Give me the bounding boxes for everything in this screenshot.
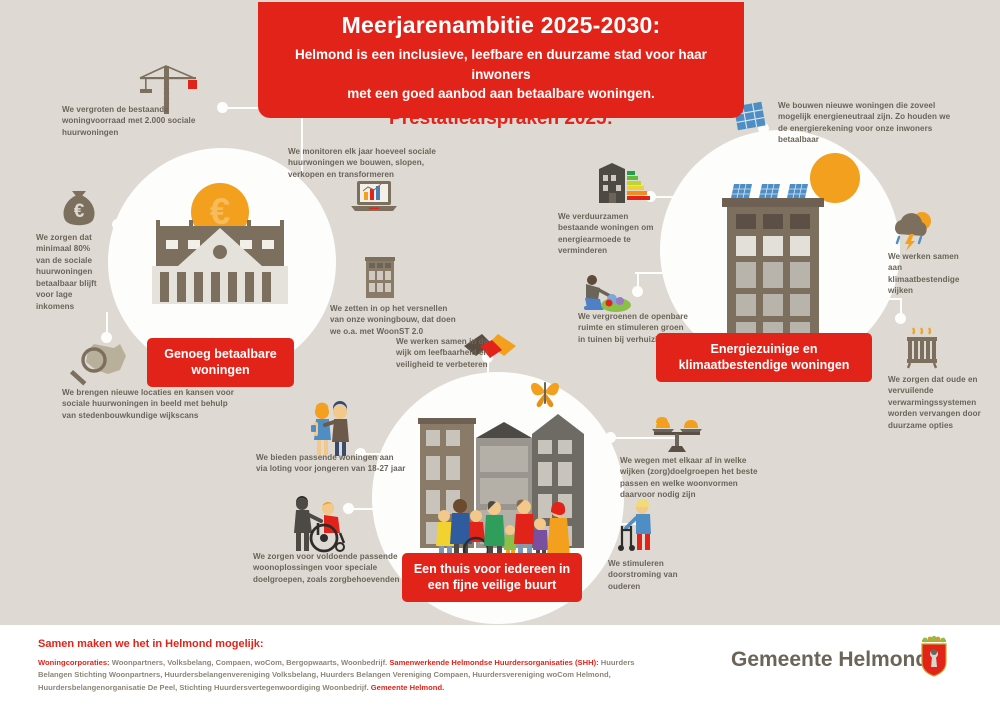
note-magnifier: We brengen nieuwe locaties en kansen voo… — [62, 387, 240, 421]
connector-dot-crane — [217, 102, 228, 113]
balance-scales-icon — [648, 416, 706, 456]
note-wheelchair: We zorgen voor voldoende passende woonop… — [253, 551, 403, 585]
connector-dot-scales — [605, 432, 616, 443]
money-bag-icon: € — [55, 182, 103, 230]
note-solarpanel: We bouwen nieuwe woningen die zoveel mog… — [778, 100, 958, 146]
connector-dot-moneybag — [112, 219, 123, 230]
svg-text:€: € — [210, 191, 231, 232]
connector-dot-gardening — [632, 286, 643, 297]
laptop-chart-icon — [348, 178, 400, 218]
young-couple-icon — [305, 400, 357, 458]
neighbourhood-people-icon — [418, 408, 590, 566]
magnifier-map-icon — [68, 340, 134, 392]
note-youngcouple: We bieden passende woningen aan via loti… — [256, 452, 406, 475]
footer-label-shh: Samenwerkende Helmondse Huurdersorganisa… — [389, 658, 598, 667]
storm-cloud-icon — [888, 210, 936, 252]
footer-label-gemeente: Gemeente Helmond. — [371, 683, 444, 692]
header-banner: Meerjarenambitie 2025-2030: Helmond is e… — [258, 2, 744, 118]
note-energylabel: We verduurzamen bestaande woningen om en… — [558, 211, 668, 257]
energy-label-icon — [597, 163, 655, 207]
section-subheading: Prestatieafspraken 2025: — [258, 108, 744, 130]
footer-label-woningcorporaties: Woningcorporaties: — [38, 658, 110, 667]
connector-dot-weather — [875, 212, 886, 223]
connector-dot-elderly — [591, 518, 602, 529]
connector-gardening-h — [635, 272, 687, 274]
classical-building-icon: € — [144, 176, 296, 308]
page-title: Meerjarenambitie 2025-2030: — [276, 12, 726, 39]
cluster-label-thuis-voor-iedereen[interactable]: Een thuis voor iedereen in een fijne vei… — [402, 553, 582, 602]
header-subtitle-line2: met een goed aanbod aan betaalbare wonin… — [276, 84, 726, 104]
butterfly-icon — [528, 376, 562, 408]
infographic-stage: € € — [0, 0, 1000, 625]
tall-building-solar-icon — [718, 182, 828, 350]
apartment-icon — [362, 252, 398, 300]
note-moneybag: We zorgen dat minimaal 80% van de social… — [36, 232, 104, 312]
connector-energylabel-h — [650, 196, 698, 198]
svg-text:€: € — [74, 201, 85, 222]
footer-text-woningcorporaties: Woonpartners, Volksbelang, Compaen, woCo… — [110, 658, 390, 667]
note-elderly: We stimuleren doorstroming van ouderen — [608, 558, 708, 592]
cluster-label-betaalbare-woningen[interactable]: Genoeg betaalbare woningen — [147, 338, 294, 387]
radiator-icon — [900, 328, 944, 370]
footer-title: Samen maken we het in Helmond mogelijk: — [38, 638, 264, 650]
footer-partners: Woningcorporaties: Woonpartners, Volksbe… — [38, 657, 658, 694]
note-flats: We zetten in op het versnellen van onze … — [330, 303, 462, 337]
connector-dot-laptop — [305, 248, 316, 259]
cluster-label-energiezuinige-woningen[interactable]: Energiezuinige en klimaatbestendige woni… — [656, 333, 872, 382]
gardening-person-icon — [576, 272, 632, 314]
infographic-canvas: € € — [0, 0, 1000, 707]
helmond-coat-of-arms-icon — [919, 638, 949, 678]
connector-dot-radiator — [895, 313, 906, 324]
connector-radiator-h — [820, 298, 902, 300]
note-weather: We werken samen aan klimaatbestendige wi… — [888, 251, 970, 297]
elderly-walker-icon — [612, 498, 662, 552]
note-radiator: We zorgen dat oude en vervuilende verwar… — [888, 374, 986, 431]
header-subtitle-line1: Helmond is een inclusieve, leefbare en d… — [276, 45, 726, 84]
connector-wheelchair-h — [348, 508, 412, 510]
note-handshake: We werken samen in de wijk om leefbaarhe… — [396, 336, 492, 370]
note-scales: We wegen met elkaar af in welke wijken (… — [620, 455, 772, 501]
wheelchair-care-icon — [288, 495, 350, 553]
note-crane: We vergroten de bestaande woningvoorraad… — [62, 104, 197, 138]
note-laptop: We monitoren elk jaar hoeveel sociale hu… — [288, 146, 438, 180]
gemeente-helmond-wordmark: Gemeente Helmond — [731, 648, 928, 672]
